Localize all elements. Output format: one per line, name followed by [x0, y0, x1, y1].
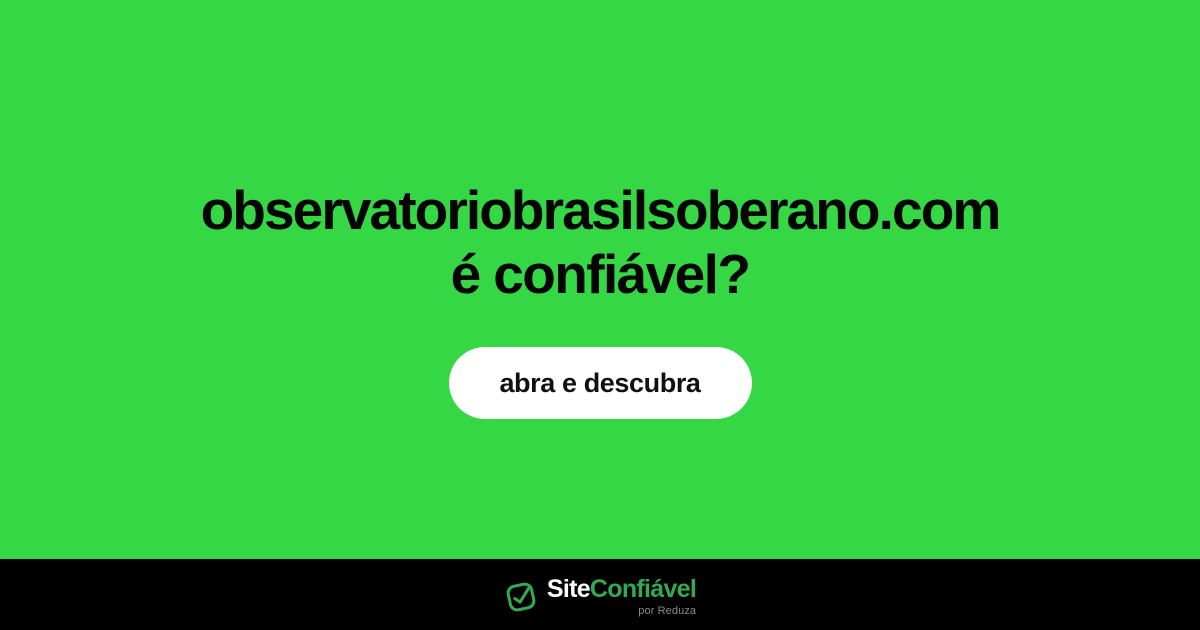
- headline-domain: observatoriobrasilsoberano.com: [70, 178, 1130, 242]
- page-title: observatoriobrasilsoberano.com é confiáv…: [70, 178, 1130, 306]
- social-share-card: observatoriobrasilsoberano.com é confiáv…: [0, 0, 1200, 630]
- brand-text-block: SiteConfiável por Reduza: [547, 577, 696, 617]
- brand-logo[interactable]: SiteConfiável por Reduza: [504, 577, 696, 617]
- footer-bar: SiteConfiável por Reduza: [0, 559, 1200, 630]
- brand-name-confiavel: Confiável: [590, 575, 696, 603]
- headline-question: é confiável?: [70, 242, 1130, 306]
- brand-name: SiteConfiável: [547, 577, 696, 602]
- hero-section: observatoriobrasilsoberano.com é confiáv…: [0, 0, 1200, 559]
- brand-name-site: Site: [547, 575, 590, 603]
- brand-tagline: por Reduza: [638, 606, 696, 617]
- open-and-discover-button[interactable]: abra e descubra: [449, 347, 752, 419]
- cta-container: abra e descubra: [0, 347, 1200, 419]
- check-badge-icon: [504, 580, 538, 614]
